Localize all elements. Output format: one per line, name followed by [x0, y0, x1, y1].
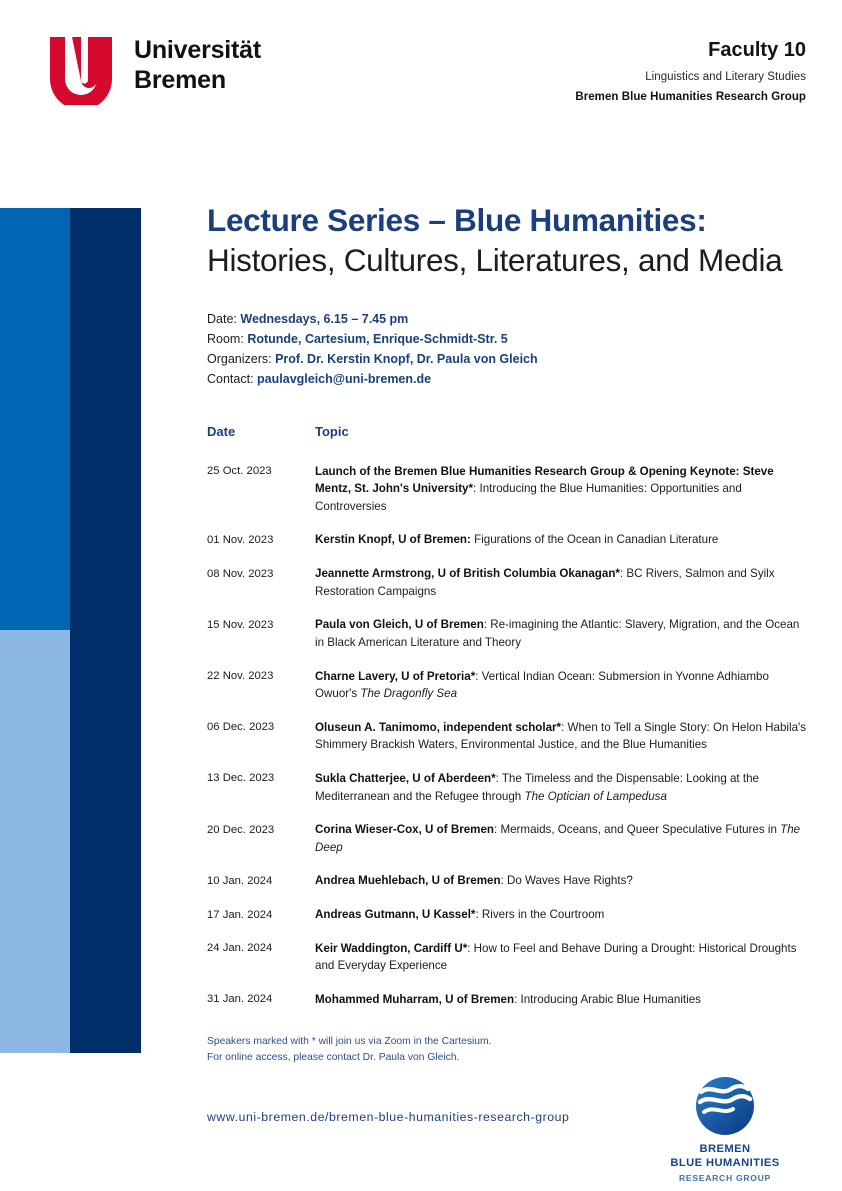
lecture-topic-text: : Introducing Arabic Blue Humanities — [514, 993, 701, 1006]
lecture-date: 20 Dec. 2023 — [207, 821, 315, 872]
lecture-speaker: Kerstin Knopf, U of Bremen: — [315, 533, 471, 546]
table-row: 22 Nov. 2023Charne Lavery, U of Pretoria… — [207, 668, 807, 719]
lecture-topic: Mohammed Muharram, U of Bremen: Introduc… — [315, 991, 807, 1025]
universitaet-bremen-u-logo-icon — [46, 37, 116, 105]
footnote-access: For online access, please contact Dr. Pa… — [207, 1050, 807, 1067]
faculty-title: Faculty 10 — [575, 38, 806, 62]
university-wordmark-line2: Bremen — [134, 66, 261, 96]
lecture-speaker: Andreas Gutmann, U Kassel* — [315, 908, 475, 921]
lecture-speaker: Andrea Muehlebach, U of Bremen — [315, 874, 501, 887]
university-wordmark: Universität Bremen — [134, 36, 261, 95]
decorative-bar-navy — [70, 208, 141, 1053]
lecture-date: 15 Nov. 2023 — [207, 616, 315, 667]
decorative-bar-medium-blue — [0, 208, 70, 630]
lecture-speaker: Charne Lavery, U of Pretoria* — [315, 670, 475, 683]
event-detail-date: Date: Wednesdays, 6.15 – 7.45 pm — [207, 309, 807, 329]
lecture-topic: Andrea Muehlebach, U of Bremen: Do Waves… — [315, 872, 807, 906]
lecture-topic-text: : Mermaids, Oceans, and Queer Speculativ… — [494, 823, 780, 836]
room-label: Room: — [207, 332, 244, 346]
event-detail-room: Room: Rotunde, Cartesium, Enrique-Schmid… — [207, 329, 807, 349]
table-row: 25 Oct. 2023Launch of the Bremen Blue Hu… — [207, 463, 807, 532]
organizers-label: Organizers: — [207, 352, 272, 366]
event-detail-organizers: Organizers: Prof. Dr. Kerstin Knopf, Dr.… — [207, 349, 807, 369]
lecture-date: 31 Jan. 2024 — [207, 991, 315, 1025]
table-row: 17 Jan. 2024Andreas Gutmann, U Kassel*: … — [207, 906, 807, 940]
lecture-topic: Corina Wieser-Cox, U of Bremen: Mermaids… — [315, 821, 807, 872]
faculty-research-group: Bremen Blue Humanities Research Group — [575, 89, 806, 106]
schedule-body: 25 Oct. 2023Launch of the Bremen Blue Hu… — [207, 463, 807, 1025]
lecture-speaker: Paula von Gleich, U of Bremen — [315, 618, 484, 631]
university-logo-block: Universität Bremen — [46, 36, 261, 105]
poster-page: Universität Bremen Faculty 10 Linguistic… — [0, 0, 842, 1191]
lecture-date: 06 Dec. 2023 — [207, 719, 315, 770]
lecture-topic-text: Figurations of the Ocean in Canadian Lit… — [471, 533, 718, 546]
table-row: 10 Jan. 2024Andrea Muehlebach, U of Brem… — [207, 872, 807, 906]
lecture-date: 24 Jan. 2024 — [207, 940, 315, 991]
table-row: 13 Dec. 2023Sukla Chatterjee, U of Aberd… — [207, 770, 807, 821]
lecture-schedule-table: Date Topic 25 Oct. 2023Launch of the Bre… — [207, 424, 807, 1025]
lecture-topic: Launch of the Bremen Blue Humanities Res… — [315, 463, 807, 532]
date-value: Wednesdays, 6.15 – 7.45 pm — [240, 312, 408, 326]
event-details: Date: Wednesdays, 6.15 – 7.45 pm Room: R… — [207, 309, 807, 390]
table-row: 01 Nov. 2023Kerstin Knopf, U of Bremen: … — [207, 531, 807, 565]
blue-humanities-logo-name: BREMEN BLUE HUMANITIES — [664, 1142, 786, 1170]
lecture-topic: Paula von Gleich, U of Bremen: Re-imagin… — [315, 616, 807, 667]
footnote-zoom: Speakers marked with * will join us via … — [207, 1034, 807, 1051]
bremen-blue-humanities-logo: BREMEN BLUE HUMANITIES RESEARCH GROUP — [664, 1076, 786, 1183]
blue-humanities-logo-subtitle: RESEARCH GROUP — [664, 1173, 786, 1183]
blue-humanities-wave-globe-icon — [695, 1076, 755, 1136]
lecture-date: 10 Jan. 2024 — [207, 872, 315, 906]
contact-label: Contact: — [207, 372, 254, 386]
lecture-speaker: Keir Waddington, Cardiff U* — [315, 942, 467, 955]
lecture-speaker: Corina Wieser-Cox, U of Bremen — [315, 823, 494, 836]
lecture-topic: Charne Lavery, U of Pretoria*: Vertical … — [315, 668, 807, 719]
contact-email[interactable]: paulavgleich@uni-bremen.de — [257, 372, 431, 386]
poster-title-secondary: Histories, Cultures, Literatures, and Me… — [207, 240, 807, 280]
lecture-topic-text: : Do Waves Have Rights? — [501, 874, 633, 887]
university-wordmark-line1: Universität — [134, 36, 261, 66]
event-detail-contact: Contact: paulavgleich@uni-bremen.de — [207, 369, 807, 389]
table-row: 06 Dec. 2023Oluseun A. Tanimomo, indepen… — [207, 719, 807, 770]
table-row: 20 Dec. 2023Corina Wieser-Cox, U of Brem… — [207, 821, 807, 872]
main-content: Lecture Series – Blue Humanities: Histor… — [207, 200, 807, 1067]
lecture-topic: Keir Waddington, Cardiff U*: How to Feel… — [315, 940, 807, 991]
lecture-topic-text: : Rivers in the Courtroom — [475, 908, 604, 921]
schedule-header-row: Date Topic — [207, 424, 807, 463]
lecture-topic: Oluseun A. Tanimomo, independent scholar… — [315, 719, 807, 770]
blue-humanities-logo-name-line2: BLUE HUMANITIES — [664, 1156, 786, 1170]
lecture-date: 01 Nov. 2023 — [207, 531, 315, 565]
table-row: 08 Nov. 2023Jeannette Armstrong, U of Br… — [207, 565, 807, 616]
lecture-speaker: Jeannette Armstrong, U of British Columb… — [315, 567, 620, 580]
lecture-date: 08 Nov. 2023 — [207, 565, 315, 616]
column-header-date: Date — [207, 424, 315, 463]
table-row: 24 Jan. 2024Keir Waddington, Cardiff U*:… — [207, 940, 807, 991]
column-header-topic: Topic — [315, 424, 807, 463]
table-row: 15 Nov. 2023Paula von Gleich, U of Breme… — [207, 616, 807, 667]
lecture-speaker: Mohammed Muharram, U of Bremen — [315, 993, 514, 1006]
organizers-value: Prof. Dr. Kerstin Knopf, Dr. Paula von G… — [275, 352, 538, 366]
date-label: Date: — [207, 312, 237, 326]
blue-humanities-logo-name-line1: BREMEN — [664, 1142, 786, 1156]
lecture-work-title: The Optician of Lampedusa — [524, 790, 666, 803]
faculty-block: Faculty 10 Linguistics and Literary Stud… — [575, 38, 806, 105]
schedule-footnotes: Speakers marked with * will join us via … — [207, 1034, 807, 1067]
lecture-topic: Sukla Chatterjee, U of Aberdeen*: The Ti… — [315, 770, 807, 821]
room-value: Rotunde, Cartesium, Enrique-Schmidt-Str.… — [247, 332, 507, 346]
poster-title-primary: Lecture Series – Blue Humanities: — [207, 200, 807, 240]
table-row: 31 Jan. 2024Mohammed Muharram, U of Brem… — [207, 991, 807, 1025]
footer-website-url[interactable]: www.uni-bremen.de/bremen-blue-humanities… — [207, 1110, 569, 1124]
decorative-bar-light-blue — [0, 630, 70, 1053]
lecture-date: 13 Dec. 2023 — [207, 770, 315, 821]
lecture-topic: Andreas Gutmann, U Kassel*: Rivers in th… — [315, 906, 807, 940]
lecture-date: 22 Nov. 2023 — [207, 668, 315, 719]
faculty-department: Linguistics and Literary Studies — [575, 69, 806, 86]
lecture-topic: Jeannette Armstrong, U of British Columb… — [315, 565, 807, 616]
lecture-speaker: Oluseun A. Tanimomo, independent scholar… — [315, 721, 561, 734]
lecture-speaker: Sukla Chatterjee, U of Aberdeen* — [315, 772, 496, 785]
lecture-date: 25 Oct. 2023 — [207, 463, 315, 532]
lecture-work-title: The Dragonfly Sea — [360, 687, 457, 700]
lecture-topic: Kerstin Knopf, U of Bremen: Figurations … — [315, 531, 807, 565]
schedule-head: Date Topic — [207, 424, 807, 463]
poster-header: Universität Bremen Faculty 10 Linguistic… — [46, 36, 806, 116]
lecture-date: 17 Jan. 2024 — [207, 906, 315, 940]
